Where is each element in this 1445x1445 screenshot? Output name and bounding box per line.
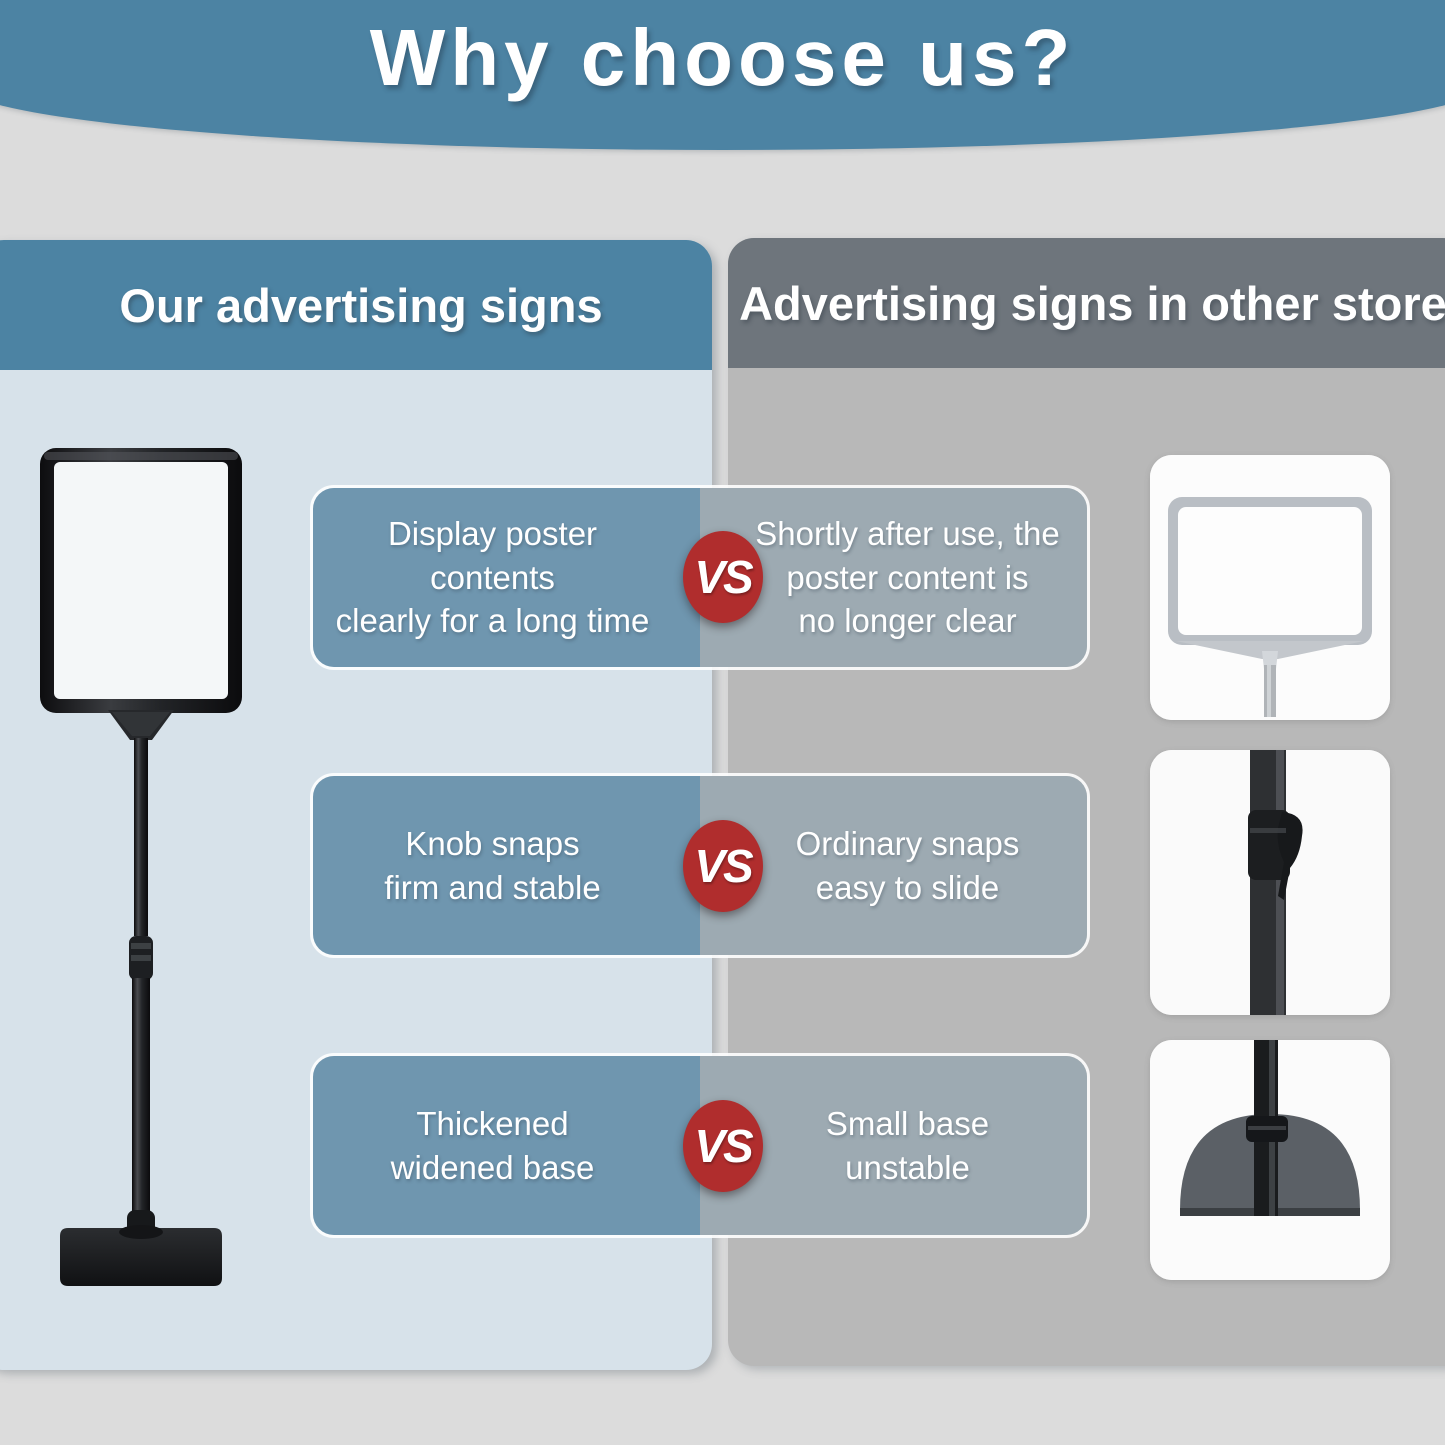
white-sign-frame-photo	[1150, 455, 1390, 720]
vs-badge-icon: VS	[683, 531, 763, 623]
panel-title-right: Advertising signs in other stores	[739, 276, 1445, 331]
comparison-theirs-text: Shortly after use, the poster content is…	[755, 512, 1060, 643]
page-title: Why choose us?	[0, 18, 1445, 98]
comparison-ours-cell: Display poster contents clearly for a lo…	[313, 488, 700, 667]
small-base-plate-photo	[1150, 1040, 1390, 1280]
comparison-ours-text: Knob snaps firm and stable	[384, 822, 600, 909]
infographic-canvas: Why choose us? Our advertising signs Adv…	[0, 0, 1445, 1445]
comparison-theirs-text: Ordinary snaps easy to slide	[796, 822, 1020, 909]
comparison-ours-cell: Thickened widened base	[313, 1056, 700, 1235]
comparison-theirs-text: Small base unstable	[826, 1102, 989, 1189]
vs-badge-icon: VS	[683, 1100, 763, 1192]
vs-label: VS	[694, 1123, 751, 1169]
panel-header-right: Advertising signs in other stores	[728, 238, 1445, 368]
vs-label: VS	[694, 843, 751, 889]
panel-header-left: Our advertising signs	[0, 240, 712, 370]
comparison-ours-text: Display poster contents clearly for a lo…	[325, 512, 660, 643]
vs-label: VS	[694, 554, 751, 600]
comparison-ours-text: Thickened widened base	[391, 1102, 595, 1189]
black-poster-stand-photo	[30, 440, 300, 1290]
pole-lever-clamp-photo	[1150, 750, 1390, 1015]
vs-badge-icon: VS	[683, 820, 763, 912]
comparison-ours-cell: Knob snaps firm and stable	[313, 776, 700, 955]
panel-title-left: Our advertising signs	[119, 278, 602, 333]
